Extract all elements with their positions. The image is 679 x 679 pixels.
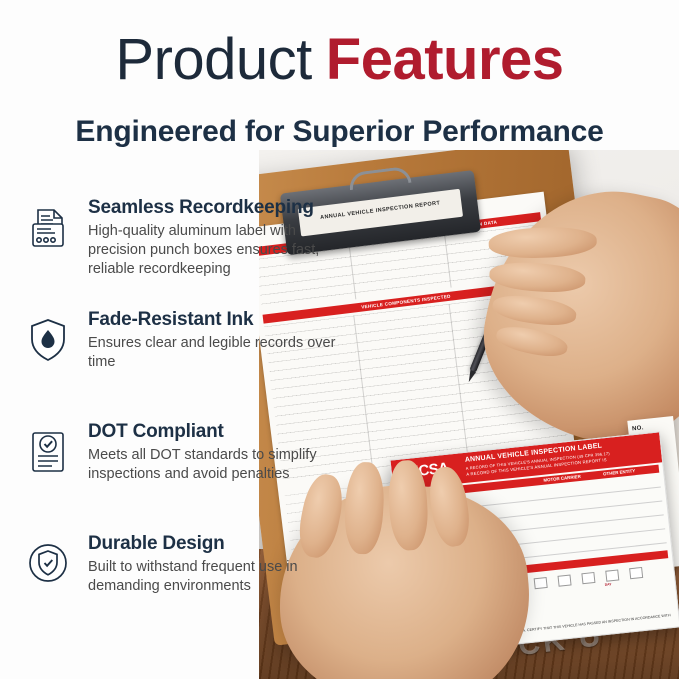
feature-title: DOT Compliant (88, 420, 356, 444)
document-stack-icon (24, 202, 76, 254)
feature-item-fade-resistant-ink: Fade-Resistant Ink Ensures clear and leg… (16, 308, 356, 404)
feature-body: Ensures clear and legible records over t… (88, 334, 356, 372)
label-motor-carrier-option: MOTOR CARRIER (543, 473, 581, 485)
finger (491, 292, 578, 329)
punch-box (534, 577, 548, 589)
feature-title: Fade-Resistant Ink (88, 308, 356, 332)
page-subtitle: Engineered for Superior Performance (0, 112, 679, 152)
label-other-entity-option: OTHER ENTITY (603, 467, 636, 478)
punch-box (605, 569, 619, 581)
punch-box (581, 572, 595, 584)
punch-label-day: DAY (605, 582, 612, 587)
side-strip-no: NO. (632, 425, 644, 432)
feature-list: Seamless Recordkeeping High-quality alum… (16, 196, 356, 636)
page-title: ProductFeatures (0, 28, 679, 92)
feature-item-dot-compliant: DOT Compliant Meets all DOT standards to… (16, 420, 356, 516)
punch-box (558, 574, 572, 586)
feature-item-recordkeeping: Seamless Recordkeeping High-quality alum… (16, 196, 356, 292)
feature-item-durable-design: Durable Design Built to withstand freque… (16, 532, 356, 628)
product-features-infographic: BUCK U ANNUAL VEHICLE INSPECTION REPORT … (0, 0, 679, 679)
finger (489, 260, 587, 295)
shield-check-icon (24, 538, 76, 590)
finger (494, 322, 569, 360)
document-check-icon (24, 426, 76, 478)
feature-title: Durable Design (88, 532, 356, 556)
page-title-word-1: Product (115, 27, 311, 92)
punch-box (629, 567, 643, 579)
page-title-word-2: Features (326, 27, 564, 92)
feature-body: High-quality aluminum label with precisi… (88, 222, 356, 279)
feature-body: Built to withstand frequent use in deman… (88, 558, 356, 596)
feature-title: Seamless Recordkeeping (88, 196, 356, 220)
shield-droplet-icon (24, 314, 76, 366)
feature-body: Meets all DOT standards to simplify insp… (88, 446, 356, 484)
